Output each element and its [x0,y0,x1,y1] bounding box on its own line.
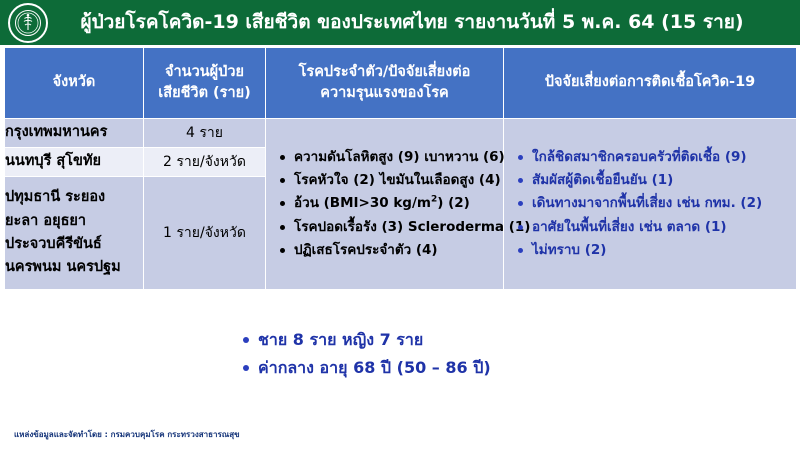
list-item: ปฏิเสธโรคประจำตัว (4) [280,239,497,262]
obesity-suffix: ) (2) [437,195,470,211]
column-header-deaths-line2: เสียชีวิต (ราย) [144,83,265,104]
list-item: เดินทางมาจากพื้นที่เสี่ยง เช่น กทม. (2) [518,192,790,215]
cell-province-3: ปทุมธานี ระยอง ยะลา อยุธยา ประจวบคีรีขัน… [5,177,144,290]
province-line: ปทุมธานี ระยอง [5,186,143,209]
province-line: ยะลา อยุธยา [5,210,143,233]
cell-deaths-3: 1 ราย/จังหวัด [144,177,266,290]
list-item: ใกล้ชิดสมาชิกครอบครัวที่ติดเชื้อ (9) [518,146,790,169]
obesity-prefix: อ้วน (BMI>30 kg/m [294,195,431,211]
column-header-exposure-risk: ปัจจัยเสี่ยงต่อการติดเชื้อโควิด-19 [504,48,797,119]
column-header-underlying-conditions: โรคประจำตัว/ปัจจัยเสี่ยงต่อ ความรุนแรงขอ… [266,48,504,119]
ministry-of-public-health-emblem-icon [8,3,48,43]
cell-deaths-1: 4 ราย [144,119,266,148]
list-item: อาศัยในพื้นที่เสี่ยง เช่น ตลาด (1) [518,216,790,239]
cell-underlying-conditions: ความดันโลหิตสูง (9) เบาหวาน (6) โรคหัวใจ… [266,119,504,290]
cell-province-1: กรุงเทพมหานคร [5,119,144,148]
table-header-row: จังหวัด จำนวนผู้ป่วย เสียชีวิต (ราย) โรค… [5,48,797,119]
province-line: นครพนม นครปฐม [5,256,143,279]
source-note: แหล่งข้อมูลและจัดทำโดย : กรมควบคุมโรค กร… [14,428,240,441]
summary-item-sex: ชาย 8 ราย หญิง 7 ราย [243,326,491,354]
page-title: ผู้ป่วยโรคโควิด-19 เสียชีวิต ของประเทศไท… [54,12,800,33]
cell-deaths-2: 2 ราย/จังหวัด [144,148,266,177]
table-row: กรุงเทพมหานคร 4 ราย ความดันโลหิตสูง (9) … [5,119,797,148]
cell-province-2: นนทบุรี สุโขทัย [5,148,144,177]
column-header-deaths: จำนวนผู้ป่วย เสียชีวิต (ราย) [144,48,266,119]
column-header-underlying-line2: ความรุนแรงของโรค [266,83,503,104]
list-item: อ้วน (BMI>30 kg/m2) (2) [280,192,497,215]
column-header-province: จังหวัด [5,48,144,119]
covid-deaths-table: จังหวัด จำนวนผู้ป่วย เสียชีวิต (ราย) โรค… [4,47,797,290]
exposure-risks-list: ใกล้ชิดสมาชิกครอบครัวที่ติดเชื้อ (9) สัม… [504,142,796,266]
list-item: โรคปอดเรื้อรัง (3) Scleroderma (1) [280,216,497,239]
province-line: ประจวบคีรีขันธ์ [5,233,143,256]
list-item: ความดันโลหิตสูง (9) เบาหวาน (6) [280,146,497,169]
cell-exposure-risks: ใกล้ชิดสมาชิกครอบครัวที่ติดเชื้อ (9) สัม… [504,119,797,290]
column-header-deaths-line1: จำนวนผู้ป่วย [144,62,265,83]
list-item: โรคหัวใจ (2) ไขมันในเลือดสูง (4) [280,169,497,192]
list-item: สัมผัสผู้ติดเชื้อยืนยัน (1) [518,169,790,192]
list-item: ไม่ทราบ (2) [518,239,790,262]
summary-list: ชาย 8 ราย หญิง 7 ราย ค่ากลาง อายุ 68 ปี … [243,326,491,383]
header-bar: ผู้ป่วยโรคโควิด-19 เสียชีวิต ของประเทศไท… [0,0,800,45]
column-header-underlying-line1: โรคประจำตัว/ปัจจัยเสี่ยงต่อ [266,62,503,83]
underlying-conditions-list: ความดันโลหิตสูง (9) เบาหวาน (6) โรคหัวใจ… [266,142,503,266]
summary-item-age: ค่ากลาง อายุ 68 ปี (50 – 86 ปี) [243,354,491,382]
